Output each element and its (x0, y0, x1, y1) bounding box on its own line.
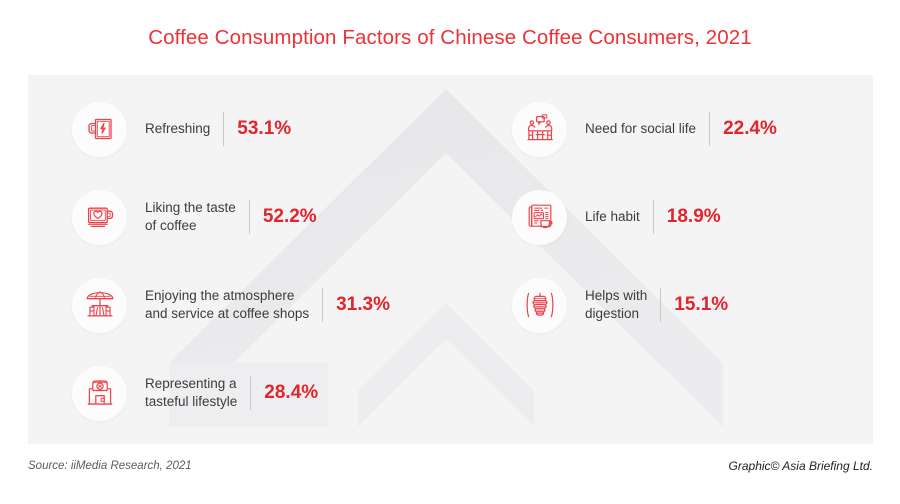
newspaper-coffee-icon (512, 190, 567, 245)
factor-body: Liking the taste of coffee 52.2% (145, 199, 317, 235)
factor-body: Representing a tasteful lifestyle 28.4% (145, 375, 318, 411)
infographic-page: Coffee Consumption Factors of Chinese Co… (0, 0, 900, 504)
factor-value: 15.1% (674, 294, 728, 316)
factor-divider (653, 200, 654, 234)
factor-value: 28.4% (264, 382, 318, 404)
coffee-cup-heart-icon (72, 190, 127, 245)
factor-label: Life habit (585, 208, 640, 226)
patio-umbrella-table-icon (72, 278, 127, 333)
graphic-credit: Graphic© Asia Briefing Ltd. (729, 459, 873, 473)
factor-value: 53.1% (237, 118, 291, 140)
source-note: Source: iiMedia Research, 2021 (28, 460, 192, 472)
factor-divider (660, 288, 661, 322)
factor-label: Representing a tasteful lifestyle (145, 375, 237, 411)
intestine-digestion-icon (512, 278, 567, 333)
page-title: Coffee Consumption Factors of Chinese Co… (148, 26, 751, 50)
factor-body: Need for social life 22.4% (585, 112, 777, 146)
factor-label: Liking the taste of coffee (145, 199, 236, 235)
factor-divider (322, 288, 323, 322)
factor-value: 31.3% (336, 294, 390, 316)
factor-item-liking-the-taste[interactable]: Liking the taste of coffee 52.2% (28, 173, 468, 261)
factor-divider (249, 200, 250, 234)
factor-value: 52.2% (263, 206, 317, 228)
content-card: Refreshing 53.1% (28, 75, 873, 444)
factor-label: Enjoying the atmosphere and service at c… (145, 287, 309, 323)
factor-body: Refreshing 53.1% (145, 112, 291, 146)
factor-item-refreshing[interactable]: Refreshing 53.1% (28, 85, 468, 173)
factor-body: Helps with digestion 15.1% (585, 287, 728, 323)
factor-divider (223, 112, 224, 146)
factor-item-life-habit[interactable]: Life habit 18.9% (468, 173, 873, 261)
factor-item-need-for-social-life[interactable]: Need for social life 22.4% (468, 85, 873, 173)
factor-label: Helps with digestion (585, 287, 647, 323)
factors-grid: Refreshing 53.1% (28, 75, 873, 444)
factor-value: 18.9% (667, 206, 721, 228)
factor-divider (250, 376, 251, 410)
factor-label: Refreshing (145, 120, 210, 138)
coffee-mug-lightning-icon (72, 102, 127, 157)
factor-value: 22.4% (723, 118, 777, 140)
factor-item-representing-a-tasteful-lifestyle[interactable]: Representing a tasteful lifestyle 28.4% (28, 349, 468, 437)
factor-body: Life habit 18.9% (585, 200, 721, 234)
coffee-shop-storefront-icon (72, 366, 127, 421)
factor-item-enjoying-the-atmosphere[interactable]: Enjoying the atmosphere and service at c… (28, 261, 468, 349)
title-bar: Coffee Consumption Factors of Chinese Co… (0, 0, 900, 75)
factor-item-helps-with-digestion[interactable]: Helps with digestion 15.1% (468, 261, 873, 349)
factor-divider (709, 112, 710, 146)
people-table-chat-icon (512, 102, 567, 157)
factor-body: Enjoying the atmosphere and service at c… (145, 287, 390, 323)
footer: Source: iiMedia Research, 2021 Graphic© … (28, 455, 873, 477)
factor-label: Need for social life (585, 120, 696, 138)
